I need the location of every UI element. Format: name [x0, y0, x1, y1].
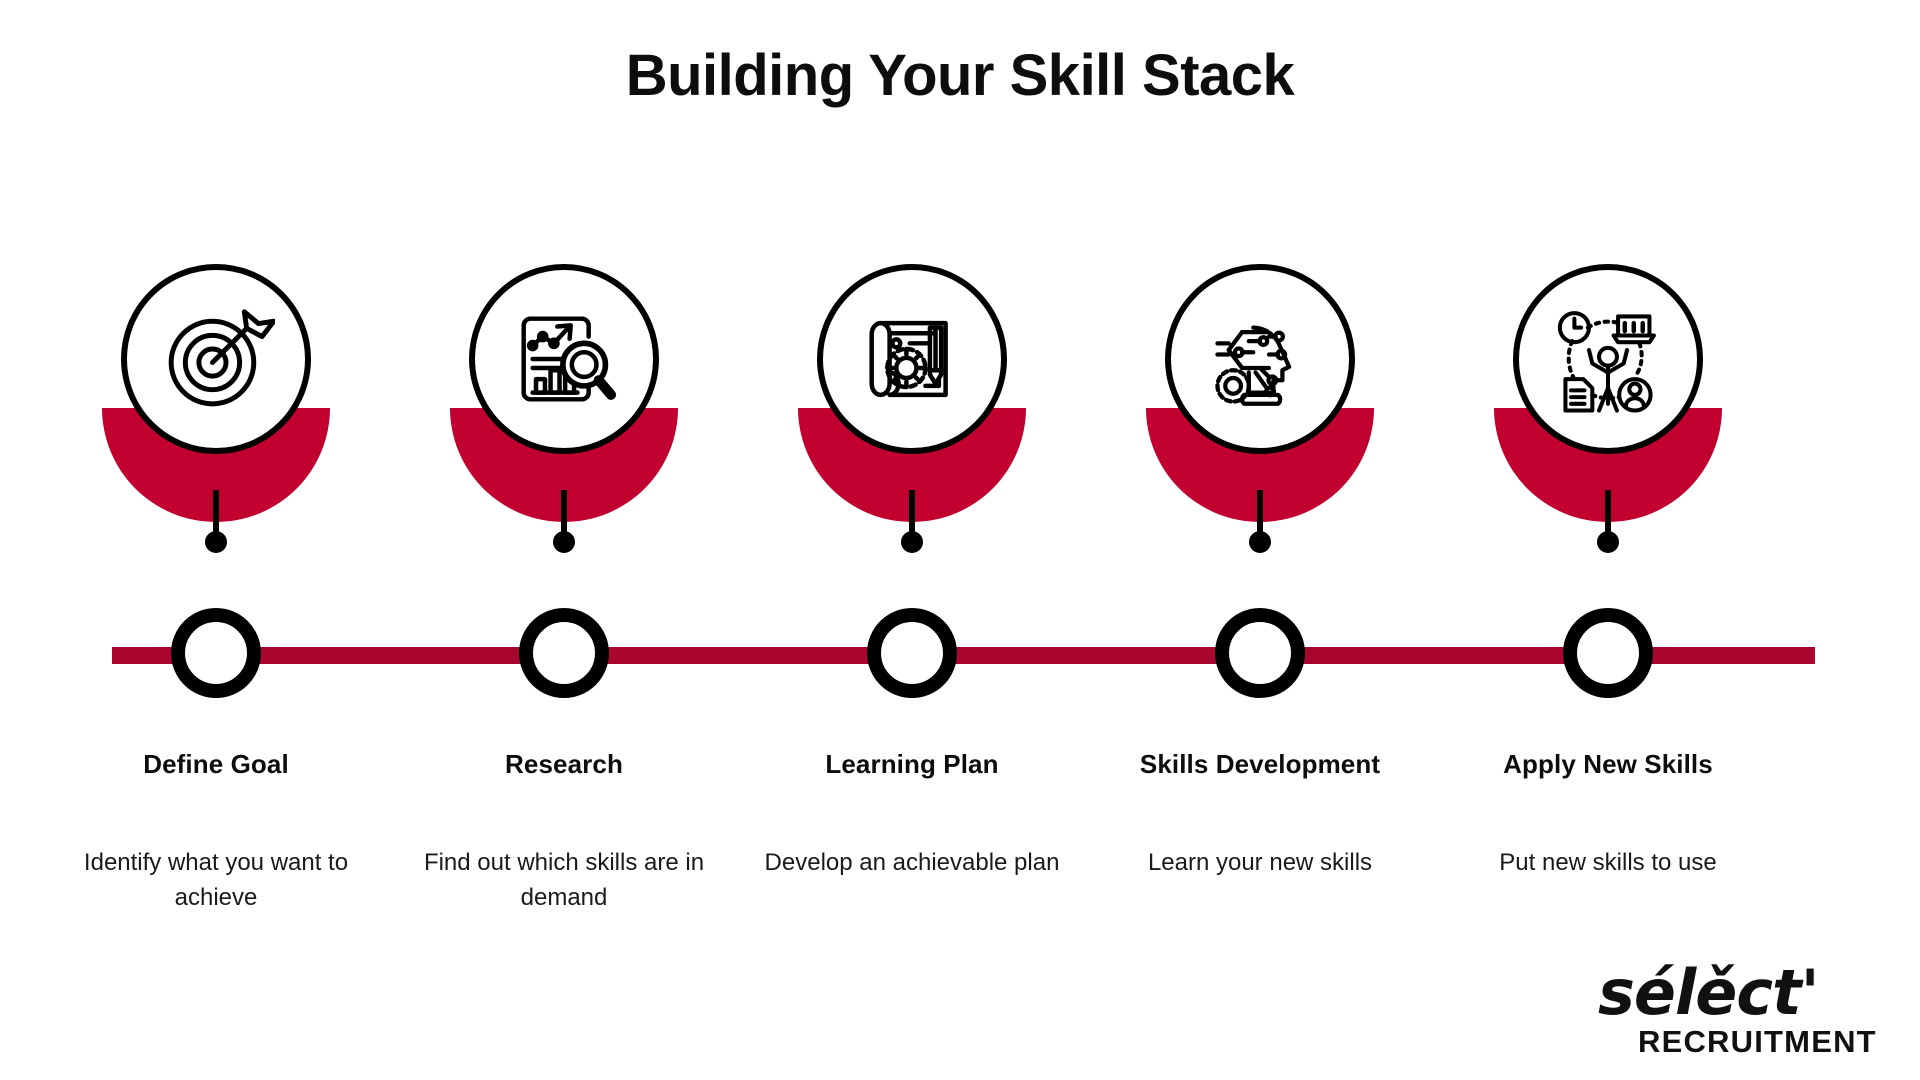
step-4-skills-development[interactable]: Skills Development Learn your new skills: [1086, 0, 1434, 1080]
step-5-stem-dot: [1597, 531, 1619, 553]
step-1-stem: [213, 490, 219, 536]
step-1-stem-dot: [205, 531, 227, 553]
step-5-timeline-node[interactable]: [1563, 608, 1653, 698]
step-5-badge: [1494, 264, 1722, 492]
infographic-canvas: Building Your Skill Stack: [0, 0, 1920, 1080]
icon-circle: [469, 264, 659, 454]
step-4-label: Skills Development: [1086, 749, 1434, 780]
person-arms-raised-icon: [1552, 303, 1664, 415]
step-5-label: Apply New Skills: [1434, 749, 1782, 780]
logo-wordmark: sélěct': [1598, 956, 1819, 1029]
icon-circle: [1513, 264, 1703, 454]
step-5-description: Put new skills to use: [1448, 845, 1768, 880]
step-2-description: Find out which skills are in demand: [404, 845, 724, 915]
step-2-research[interactable]: Research Find out which skills are in de…: [390, 0, 738, 1080]
step-4-stem: [1257, 490, 1263, 536]
blueprint-gear-pencil-icon: [856, 303, 968, 415]
step-1-timeline-node[interactable]: [171, 608, 261, 698]
target-arrow-icon: [157, 300, 275, 418]
step-3-description: Develop an achievable plan: [752, 845, 1072, 880]
step-5-apply-new-skills[interactable]: Apply New Skills Put new skills to use: [1434, 0, 1782, 1080]
step-3-label: Learning Plan: [738, 749, 1086, 780]
step-1-label: Define Goal: [42, 749, 390, 780]
step-1-description: Identify what you want to achieve: [56, 845, 376, 915]
step-4-badge: [1146, 264, 1374, 492]
step-3-stem-dot: [901, 531, 923, 553]
step-2-badge: [450, 264, 678, 492]
icon-circle: [121, 264, 311, 454]
step-2-label: Research: [390, 749, 738, 780]
step-2-stem-dot: [553, 531, 575, 553]
report-magnifier-icon: [508, 303, 620, 415]
step-3-badge: [798, 264, 1026, 492]
logo-tagline: RECRUITMENT: [1638, 1024, 1877, 1059]
step-2-timeline-node[interactable]: [519, 608, 609, 698]
step-1-badge: [102, 264, 330, 492]
brand-logo[interactable]: sélěct' RECRUITMENT: [1590, 952, 1890, 1062]
icon-circle: [817, 264, 1007, 454]
step-4-timeline-node[interactable]: [1215, 608, 1305, 698]
step-3-timeline-node[interactable]: [867, 608, 957, 698]
step-4-description: Learn your new skills: [1100, 845, 1420, 880]
step-1-define-goal[interactable]: Define Goal Identify what you want to ac…: [42, 0, 390, 1080]
step-3-learning-plan[interactable]: Learning Plan Develop an achievable plan: [738, 0, 1086, 1080]
head-circuit-gear-icon: [1204, 303, 1316, 415]
step-4-stem-dot: [1249, 531, 1271, 553]
step-2-stem: [561, 490, 567, 536]
steps-container: Define Goal Identify what you want to ac…: [0, 0, 1920, 1080]
icon-circle: [1165, 264, 1355, 454]
step-5-stem: [1605, 490, 1611, 536]
step-3-stem: [909, 490, 915, 536]
